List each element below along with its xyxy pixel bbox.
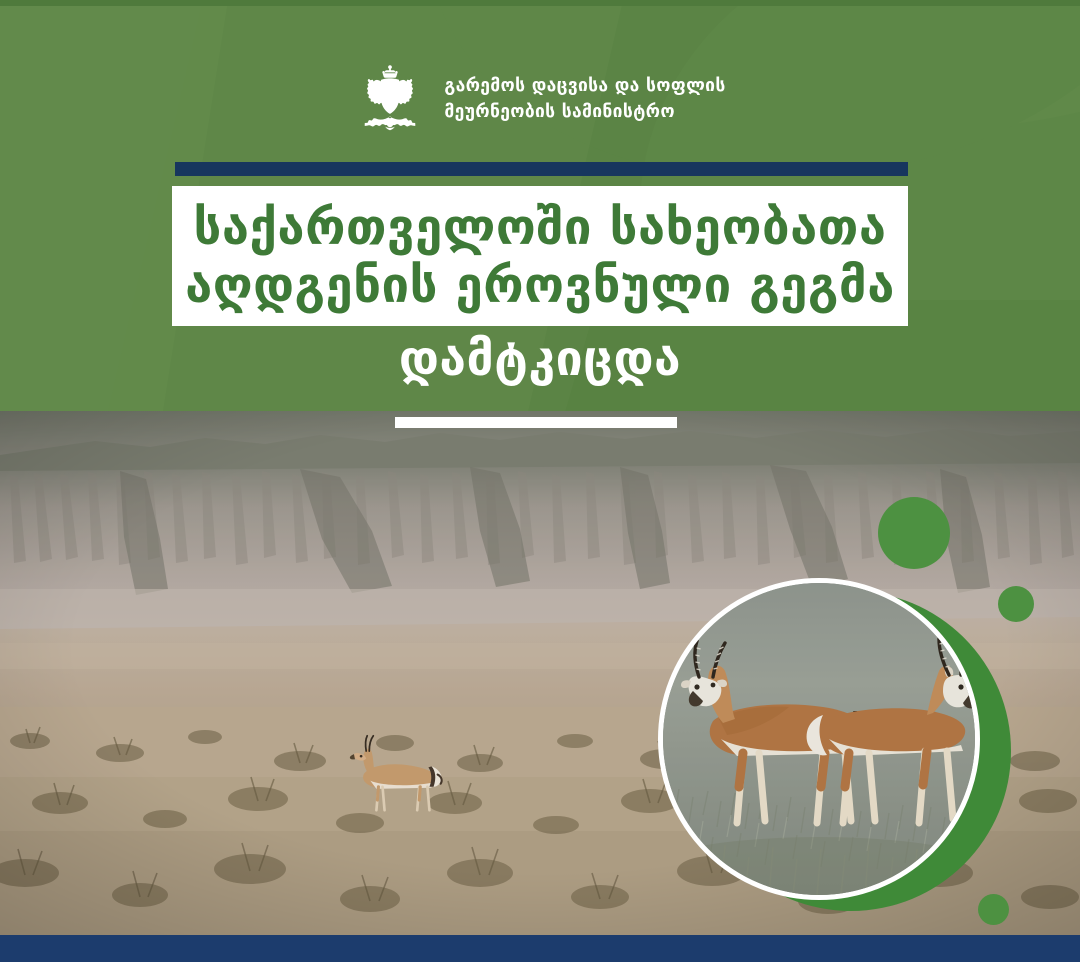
title-line-3: დამტკიცდა: [0, 333, 1080, 386]
navy-rule-bar: [175, 162, 908, 176]
green-decorative-circle-medium: [998, 586, 1034, 622]
georgia-coat-of-arms-icon: [354, 62, 426, 138]
green-decorative-circle-large: [878, 497, 950, 569]
white-underline-bar: [395, 417, 677, 428]
title-plaque: საქართველოში სახეობათა აღდგენის ეროვნული…: [172, 186, 908, 326]
title-line-2: აღდგენის ეროვნული გეგმა: [185, 257, 895, 315]
green-decorative-circle-small: [978, 894, 1009, 925]
navy-footer-bar: [0, 935, 1080, 962]
header-top-strip: [0, 0, 1080, 6]
ministry-name: გარემოს დაცვისა და სოფლის მეურნეობის სამ…: [444, 74, 725, 126]
title-line-1: საქართველოში სახეობათა: [194, 199, 887, 257]
ministry-lockup: გარემოს დაცვისა და სოფლის მეურნეობის სამ…: [0, 62, 1080, 138]
inset-photo-gazelles: [658, 578, 980, 900]
poster-canvas: გარემოს დაცვისა და სოფლის მეურნეობის სამ…: [0, 0, 1080, 962]
